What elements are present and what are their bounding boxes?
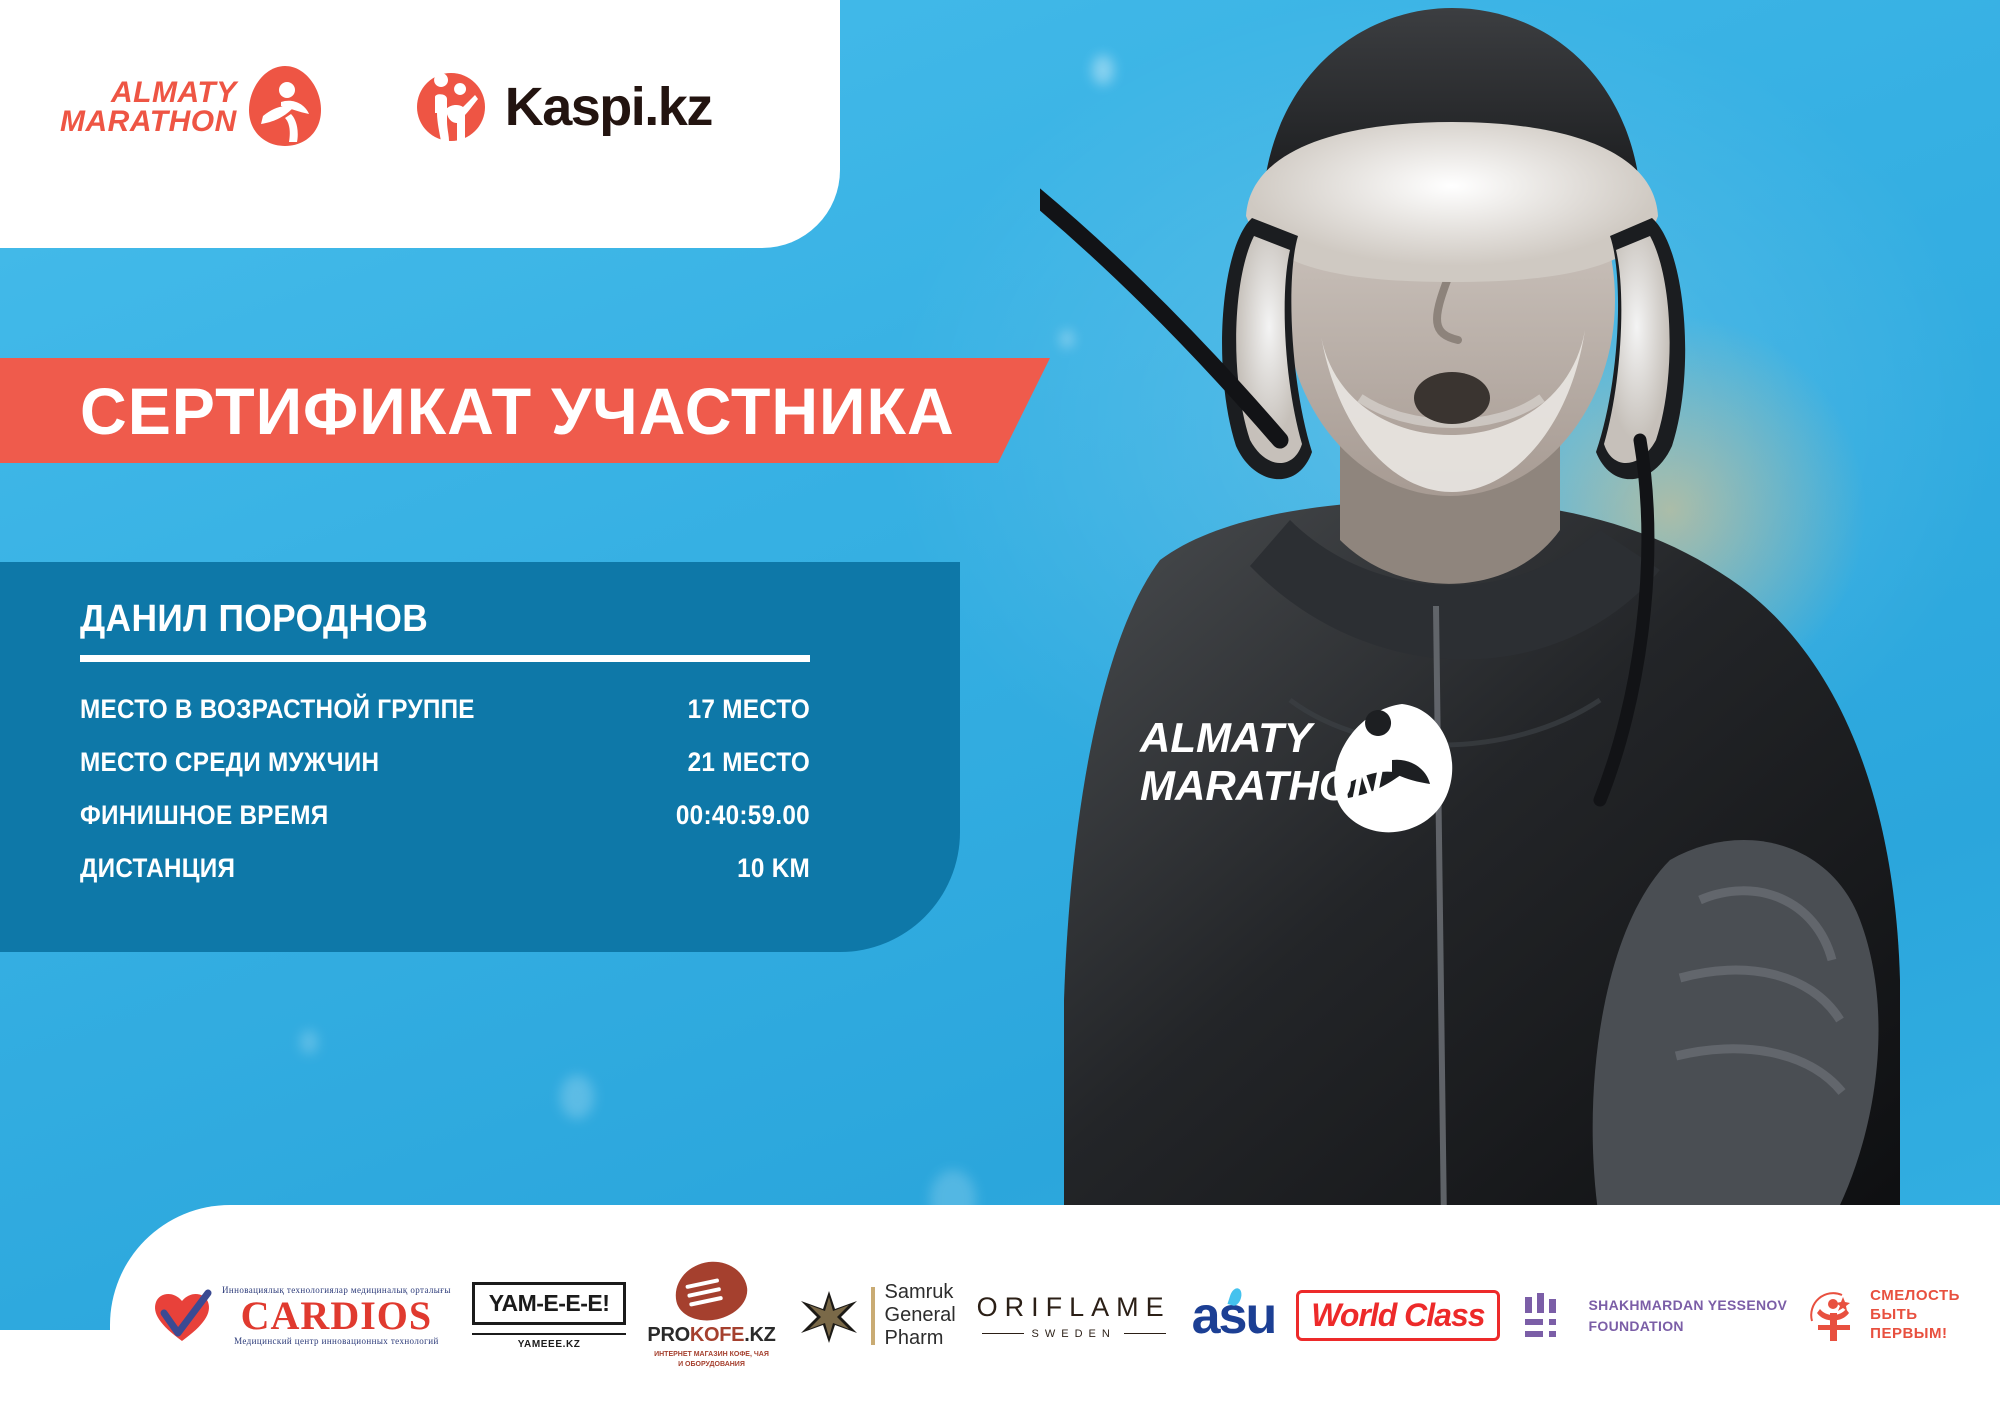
prokofe-name-pre: PRO [647, 1324, 689, 1346]
samruk-divider [871, 1287, 875, 1345]
stat-label: МЕСТО В ВОЗРАСТНОЙ ГРУППЕ [80, 694, 475, 725]
oriflame-name: ORIFLAME [977, 1292, 1171, 1323]
smelost-line2: БЫТЬ [1870, 1306, 1960, 1325]
almaty-marathon-line2: MARATHON [60, 107, 237, 136]
cardios-wordmark: Инновациялық технологиялар медициналық о… [222, 1286, 451, 1346]
prokofe-tagline-line1: ИНТЕРНЕТ МАГАЗИН КОФЕ, ЧАЯ [647, 1350, 775, 1359]
sponsor-world-class: World Class [1296, 1290, 1499, 1341]
almaty-marathon-wordmark: ALMATY MARATHON [60, 78, 237, 137]
participant-info-panel: ДАНИЛ ПОРОДНОВ МЕСТО В ВОЗРАСТНОЙ ГРУППЕ… [0, 562, 960, 952]
stat-label: ДИСТАНЦИЯ [80, 853, 235, 884]
yessenov-bars-icon [1521, 1293, 1573, 1339]
brand-bar: ALMATY MARATHON [0, 0, 840, 248]
certificate-canvas: ALMATY MARATHON ALMATY MARATHON [0, 0, 2000, 1413]
runner-photo: ALMATY MARATHON [1040, 0, 2000, 1225]
smelost-figure-icon [1808, 1287, 1860, 1345]
yam-wrapper-icon: YAM-E-E-E! YAMEEE.KZ [472, 1282, 627, 1350]
stat-row: МЕСТО В ВОЗРАСТНОЙ ГРУППЕ 17 МЕСТО [80, 694, 810, 725]
samruk-line2: General [885, 1304, 956, 1327]
page-title: СЕРТИФИКАТ УЧАСТНИКА [80, 373, 955, 449]
stat-value: 17 МЕСТО [688, 694, 810, 725]
world-class-badge-icon: World Class [1296, 1290, 1499, 1341]
cardios-name: CARDIOS [222, 1295, 451, 1337]
sponsor-logo-row: Инновациялық технологиялар медициналық о… [130, 1258, 1980, 1373]
oriflame-rule-left [982, 1333, 1024, 1334]
almaty-marathon-runner-icon [247, 64, 323, 150]
smelost-line3: ПЕРВЫМ! [1870, 1325, 1960, 1344]
oriflame-sub: SWEDEN [977, 1328, 1171, 1340]
sponsor-yam-e-e-e: YAM-E-E-E! YAMEEE.KZ [472, 1282, 627, 1350]
asu-name: asu [1192, 1286, 1276, 1346]
yessenov-wordmark: SHAKHMARDAN YESSENOV FOUNDATION [1589, 1295, 1788, 1337]
samruk-line1: Samruk [885, 1281, 956, 1304]
stat-label: ФИНИШНОЕ ВРЕМЯ [80, 800, 329, 831]
prokofe-name-post: .KZ [744, 1324, 775, 1346]
sponsor-asu: asu [1192, 1286, 1276, 1346]
stat-row: ДИСТАНЦИЯ 10 KM [80, 853, 810, 884]
certificate-title-banner: СЕРТИФИКАТ УЧАСТНИКА [0, 358, 1050, 463]
snowflake-decor [300, 1030, 318, 1054]
oriflame-country: SWEDEN [1032, 1328, 1116, 1340]
sponsor-oriflame: ORIFLAME SWEDEN [977, 1292, 1171, 1340]
prokofe-name-accent: KOFE [690, 1324, 744, 1346]
oriflame-rule-right [1124, 1333, 1166, 1334]
result-stats-list: МЕСТО В ВОЗРАСТНОЙ ГРУППЕ 17 МЕСТО МЕСТО… [80, 694, 810, 884]
samruk-line3: Pharm [885, 1327, 956, 1350]
almaty-marathon-line1: ALMATY [60, 78, 237, 107]
smelost-line1: СМЕЛОСТЬ [1870, 1287, 1960, 1306]
name-divider [80, 655, 810, 662]
stat-value: 21 МЕСТО [688, 747, 810, 778]
prokofe-name: PROKOFE.KZ [647, 1324, 775, 1347]
stat-row: ФИНИШНОЕ ВРЕМЯ 00:40:59.00 [80, 800, 810, 831]
yessenov-line1: SHAKHMARDAN YESSENOV [1589, 1295, 1788, 1316]
sponsor-samruk-general-pharm: Samruk General Pharm [797, 1281, 956, 1350]
svg-text:MARATHON: MARATHON [1140, 762, 1384, 809]
prokofe-tagline-line2: И ОБОРУДОВАНИЯ [647, 1360, 775, 1369]
stat-row: МЕСТО СРЕДИ МУЖЧИН 21 МЕСТО [80, 747, 810, 778]
runner-illustration: ALMATY MARATHON [1040, 0, 2000, 1225]
world-class-name: World Class [1311, 1297, 1484, 1334]
prokofe-bean-icon [670, 1256, 752, 1328]
sponsor-shakhmardan-yessenov-foundation: SHAKHMARDAN YESSENOV FOUNDATION [1521, 1293, 1788, 1339]
cardios-heart-check-icon [150, 1287, 214, 1345]
snowflake-decor [560, 1075, 594, 1119]
kaspi-logo: Kaspi.kz [415, 71, 712, 143]
participant-name: ДАНИЛ ПОРОДНОВ [80, 598, 898, 641]
stat-label: МЕСТО СРЕДИ МУЖЧИН [80, 747, 379, 778]
smelost-wordmark: СМЕЛОСТЬ БЫТЬ ПЕРВЫМ! [1870, 1287, 1960, 1343]
header-panel: ALMATY MARATHON [0, 0, 840, 248]
svg-text:ALMATY: ALMATY [1139, 714, 1316, 761]
stat-value: 10 KM [737, 853, 810, 884]
samruk-wordmark: Samruk General Pharm [885, 1281, 956, 1350]
sponsor-prokofe-kz: PROKOFE.KZ ИНТЕРНЕТ МАГАЗИН КОФЕ, ЧАЯ И … [647, 1262, 775, 1368]
yam-name: YAM-E-E-E! [472, 1282, 627, 1325]
samruk-bird-icon [797, 1287, 861, 1345]
sponsor-smelost-byt-pervym: СМЕЛОСТЬ БЫТЬ ПЕРВЫМ! [1808, 1287, 1960, 1345]
cardios-ru-tagline: Медицинский центр инновационных технолог… [222, 1337, 451, 1346]
kaspi-people-icon [415, 71, 487, 143]
prokofe-tagline: ИНТЕРНЕТ МАГАЗИН КОФЕ, ЧАЯ И ОБОРУДОВАНИ… [647, 1350, 775, 1368]
yessenov-line2: FOUNDATION [1589, 1316, 1788, 1337]
stat-value: 00:40:59.00 [676, 800, 810, 831]
kaspi-wordmark: Kaspi.kz [505, 76, 712, 138]
almaty-marathon-logo: ALMATY MARATHON [60, 64, 323, 150]
sponsor-cardios: Инновациялық технологиялар медициналық о… [150, 1286, 451, 1346]
yam-url: YAMEEE.KZ [472, 1333, 627, 1350]
